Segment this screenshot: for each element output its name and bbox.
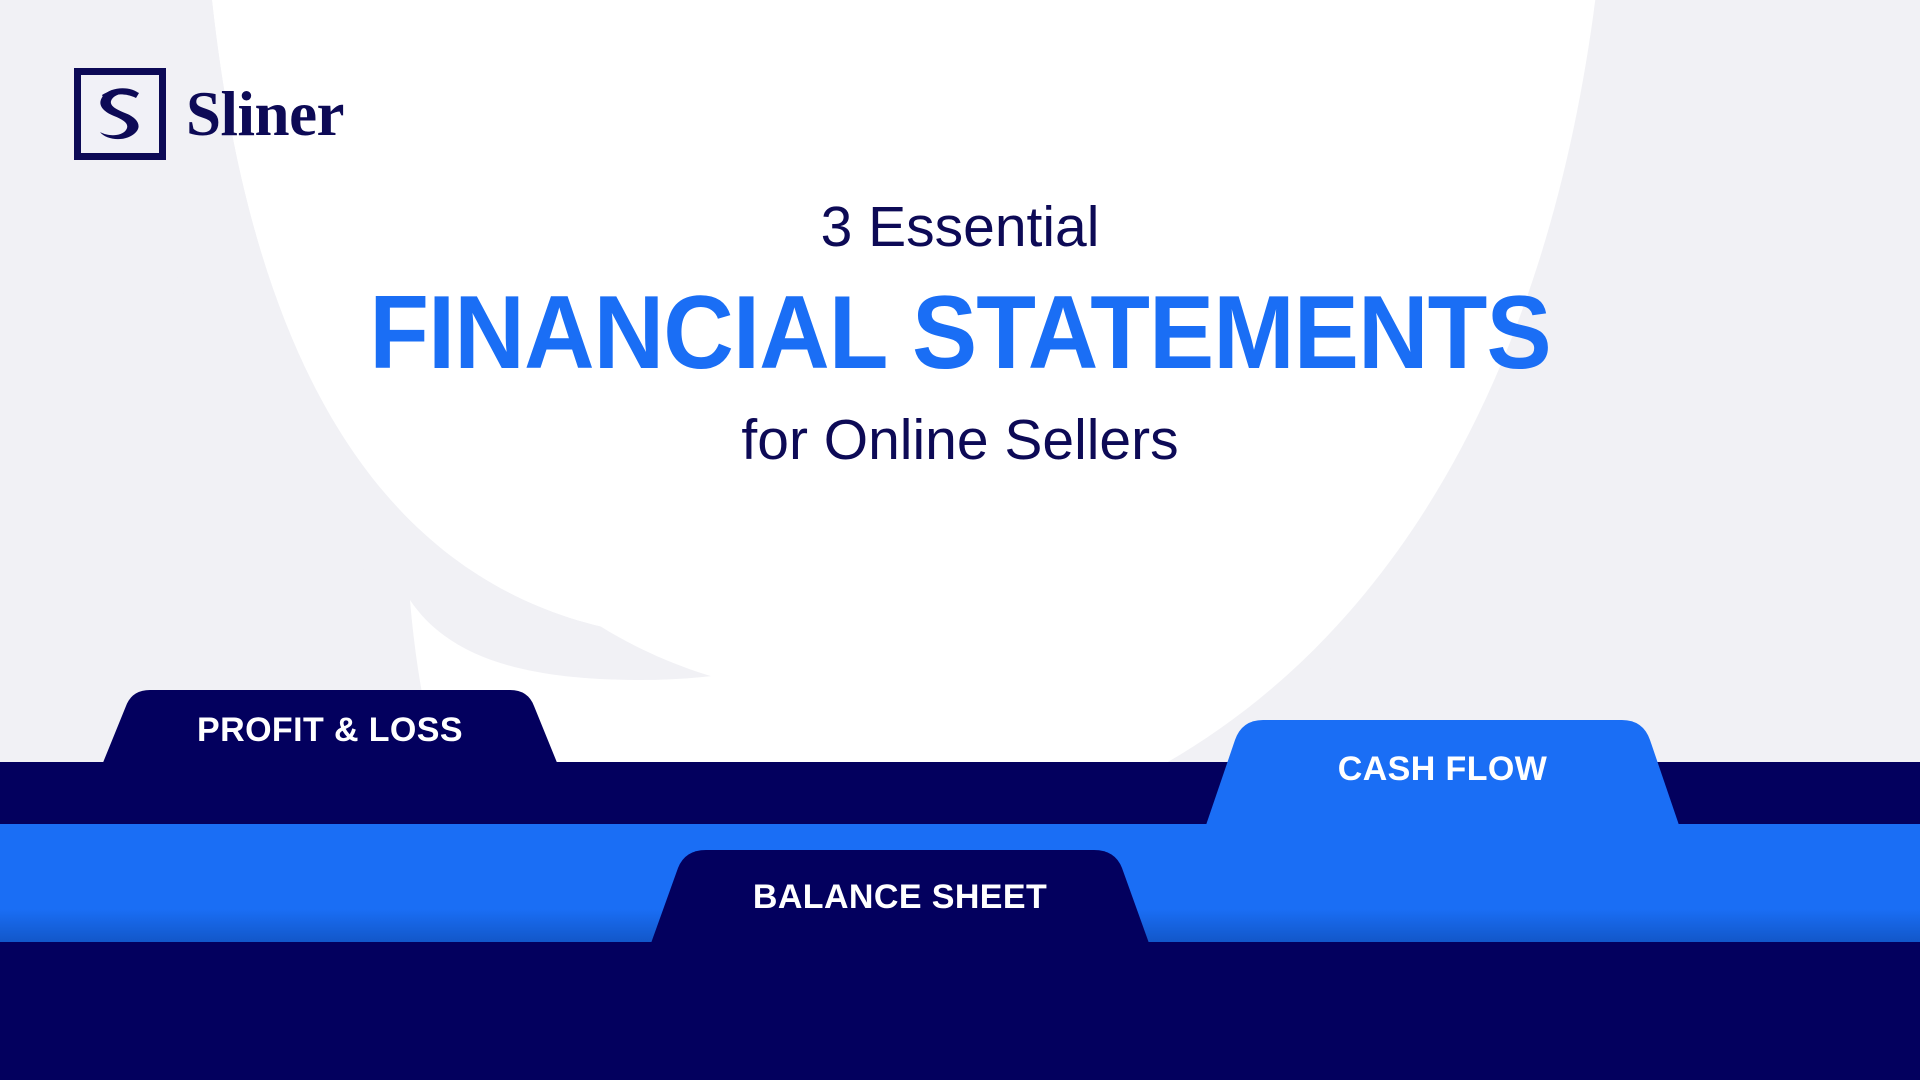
page-title: FINANCIAL STATEMENTS xyxy=(58,272,1863,395)
brand-wordmark: Sliner xyxy=(186,83,344,146)
folder-tab-label: CASH FLOW xyxy=(1338,750,1547,789)
folder-tab-profit-and-loss[interactable]: PROFIT & LOSS xyxy=(100,690,560,770)
brand-logo[interactable]: Sliner xyxy=(74,68,344,160)
folder-tab-label: PROFIT & LOSS xyxy=(197,711,463,750)
folder-tab-cash-flow[interactable]: CASH FLOW xyxy=(1205,718,1680,828)
headline-eyebrow: 3 Essential xyxy=(0,196,1920,260)
folder-tab-label: BALANCE SHEET xyxy=(753,878,1047,917)
headline-block: 3 Essential FINANCIAL STATEMENTS for Onl… xyxy=(0,196,1920,472)
slide-canvas: Sliner 3 Essential FINANCIAL STATEMENTS … xyxy=(0,0,1920,1080)
band-navy-bottom xyxy=(0,942,1920,1080)
folder-tab-balance-sheet[interactable]: BALANCE SHEET xyxy=(650,850,1150,946)
headline-subtitle: for Online Sellers xyxy=(0,409,1920,473)
sliner-s-monogram-icon xyxy=(74,68,166,160)
